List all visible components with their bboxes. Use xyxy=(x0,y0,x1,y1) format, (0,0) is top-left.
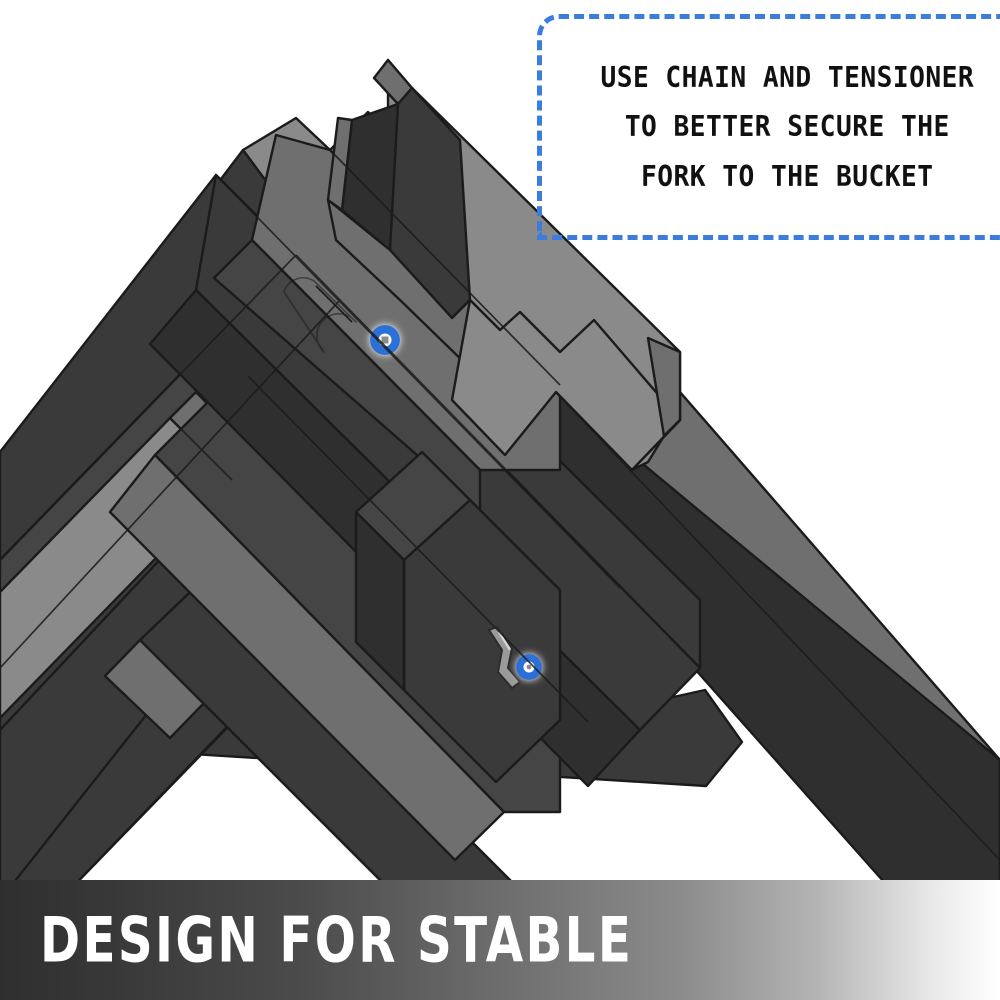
instruction-callout: USE CHAIN AND TENSIONER TO BETTER SECURE… xyxy=(537,14,1000,240)
bottom-banner: DESIGN FOR STABLE xyxy=(0,880,1000,1000)
product-image-canvas: .ln{stroke:#1b1b1b;stroke-width:2.4;stro… xyxy=(0,0,1000,1000)
callout-line-2: TO BETTER SECURE THE xyxy=(597,102,976,151)
pin-marker-upper xyxy=(370,325,400,355)
callout-line-3: FORK TO THE BUCKET xyxy=(597,152,976,201)
callout-line-1: USE CHAIN AND TENSIONER xyxy=(597,53,976,102)
banner-title: DESIGN FOR STABLE xyxy=(40,904,633,977)
pin-marker-lower xyxy=(516,654,542,680)
callout-text-block: USE CHAIN AND TENSIONER TO BETTER SECURE… xyxy=(581,53,977,200)
